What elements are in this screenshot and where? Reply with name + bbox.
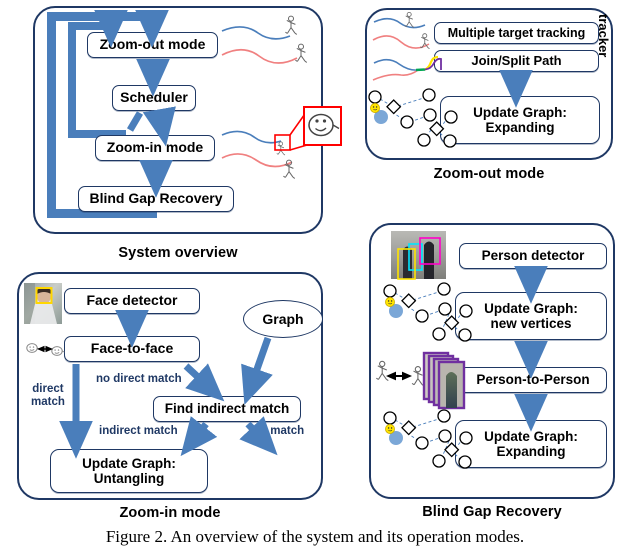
box-multiple-target-tracking[interactable]: Multiple target tracking bbox=[434, 22, 599, 44]
box-label: Person-to-Person bbox=[476, 372, 589, 387]
edge-label-line1: direct bbox=[32, 383, 63, 395]
figure-caption: Figure 2. An overview of the system and … bbox=[0, 527, 630, 547]
box-label: Join/Split Path bbox=[471, 54, 561, 69]
box-scheduler[interactable]: Scheduler bbox=[112, 85, 196, 111]
box-graph[interactable]: Graph bbox=[243, 300, 323, 338]
box-label-line2: Expanding bbox=[485, 120, 554, 135]
box-zoom-out-mode[interactable]: Zoom-out mode bbox=[87, 32, 218, 58]
edge-label-direct-match: direct match bbox=[31, 383, 65, 409]
routing-bar-inner-vertical bbox=[68, 22, 76, 138]
box-person-to-person[interactable]: Person-to-Person bbox=[459, 367, 607, 393]
box-label: Zoom-out mode bbox=[100, 37, 206, 53]
box-update-graph-expanding[interactable]: Update Graph: Expanding bbox=[440, 96, 600, 144]
box-label-line1: Update Graph: bbox=[484, 301, 578, 316]
figure-root: Zoom-out mode Scheduler Zoom-in mode Bli… bbox=[0, 0, 630, 550]
panel-title-zoom-out-mode: Zoom-out mode bbox=[365, 166, 613, 182]
box-label: Blind Gap Recovery bbox=[89, 191, 222, 207]
box-label: Person detector bbox=[482, 248, 585, 263]
box-update-graph-untangling[interactable]: Update Graph: Untangling bbox=[50, 449, 208, 493]
box-blind-gap-recovery[interactable]: Blind Gap Recovery bbox=[78, 186, 234, 212]
box-label-line1: Update Graph: bbox=[484, 429, 578, 444]
box-zoom-in-mode[interactable]: Zoom-in mode bbox=[95, 135, 215, 161]
box-face-to-face[interactable]: Face-to-face bbox=[64, 336, 200, 362]
edge-label-no-direct-match: no direct match bbox=[96, 373, 182, 386]
box-label: Scheduler bbox=[120, 90, 188, 106]
edge-label-no-match: no match bbox=[253, 425, 304, 438]
routing-bar-outer-down-stub bbox=[148, 12, 157, 28]
panel-title-zoom-in-mode: Zoom-in mode bbox=[17, 505, 323, 521]
box-label-line2: Expanding bbox=[496, 444, 565, 459]
box-label: Zoom-in mode bbox=[107, 140, 203, 156]
box-label-line2: new vertices bbox=[490, 316, 571, 331]
edge-label-indirect-match: indirect match bbox=[99, 425, 178, 438]
box-label: Find indirect match bbox=[165, 401, 290, 416]
panel-title-system-overview: System overview bbox=[33, 245, 323, 261]
edge-label-line2: match bbox=[31, 396, 65, 408]
box-find-indirect-match[interactable]: Find indirect match bbox=[153, 396, 301, 422]
box-label-line1: Update Graph: bbox=[473, 105, 567, 120]
box-update-graph-expanding-2[interactable]: Update Graph: Expanding bbox=[455, 420, 607, 468]
box-update-graph-new-vertices[interactable]: Update Graph: new vertices bbox=[455, 292, 607, 340]
box-label: Graph bbox=[262, 311, 303, 327]
box-join-split-path[interactable]: Join/Split Path bbox=[434, 50, 599, 72]
panel-title-blind-gap-recovery: Blind Gap Recovery bbox=[369, 504, 615, 520]
box-person-detector[interactable]: Person detector bbox=[459, 243, 607, 269]
box-face-detector[interactable]: Face detector bbox=[64, 288, 200, 314]
box-label-line1: Update Graph: bbox=[82, 456, 176, 471]
box-label: Face detector bbox=[86, 293, 177, 309]
routing-bar-outer-vertical bbox=[47, 12, 56, 218]
box-label: Multiple target tracking bbox=[448, 26, 586, 40]
routing-bar-outer-top bbox=[47, 12, 157, 21]
box-label-line2: Untangling bbox=[94, 471, 165, 486]
box-label: Face-to-face bbox=[91, 341, 173, 357]
routing-bar-inner-top bbox=[68, 22, 112, 30]
